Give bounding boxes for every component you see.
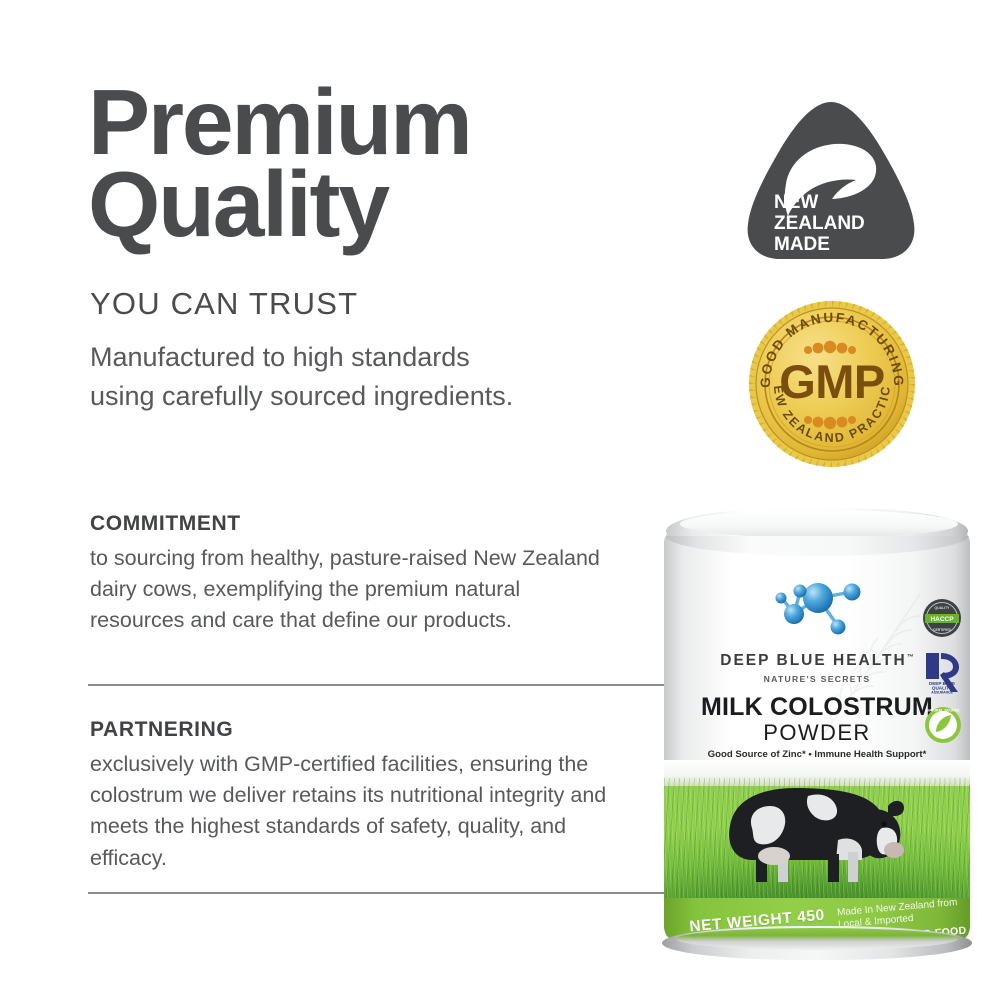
headline-line-2: Quality [88,164,688,246]
section-title: COMMITMENT [90,512,600,536]
svg-text:CERTIFIED: CERTIFIED [933,628,951,632]
section-commitment: COMMITMENT to sourcing from healthy, pas… [90,512,600,637]
nz-badge-line-2: ZEALAND [774,213,865,234]
can-body: DEEP BLUE HEALTH™ NATURE'S SECRETS MILK … [664,530,970,940]
divider-1 [88,684,680,686]
product-can: DEEP BLUE HEALTH™ NATURE'S SECRETS MILK … [664,508,970,960]
green-leaf-seal-icon: NATURAL SOURCE [924,706,962,744]
haccp-seal-icon: HACCP QUALITY CERTIFIED [922,598,962,638]
can-lid-top [680,510,958,538]
blue-molecule-icon [760,570,878,648]
lede-paragraph: Manufactured to high standards using car… [90,338,520,416]
promo-page: Premium Quality YOU CAN TRUST Manufactur… [0,0,1000,1000]
divider-2 [88,892,680,894]
cow-illustration [712,766,908,884]
nz-made-badge: NEW ZEALAND MADE [742,98,920,263]
page-title: Premium Quality [88,82,688,246]
nz-badge-line-1: NEW [774,192,818,213]
svg-text:HACCP: HACCP [930,616,954,623]
subheading: YOU CAN TRUST [90,286,358,322]
quality-assurance-icon: DEEP BLUE QUALITY ASSURANCE [924,652,960,694]
gmp-seal: GOOD MANUFACTURING NEW ZEALAND PRACTICE … [748,300,916,468]
can-bottom-rim-inner [676,928,958,950]
section-title: PARTNERING [90,718,620,742]
section-body: to sourcing from healthy, pasture-raised… [90,543,600,637]
trademark-symbol: ™ [907,654,914,661]
gmp-center-text: GMP [779,355,885,408]
svg-text:QUALITY: QUALITY [935,606,951,610]
svg-text:NATURAL SOURCE: NATURAL SOURCE [926,709,960,713]
svg-text:ASSURANCE: ASSURANCE [931,690,953,694]
section-partnering: PARTNERING exclusively with GMP-certifie… [90,718,620,874]
section-body: exclusively with GMP-certified facilitie… [90,749,620,874]
nz-badge-line-3: MADE [774,234,830,255]
